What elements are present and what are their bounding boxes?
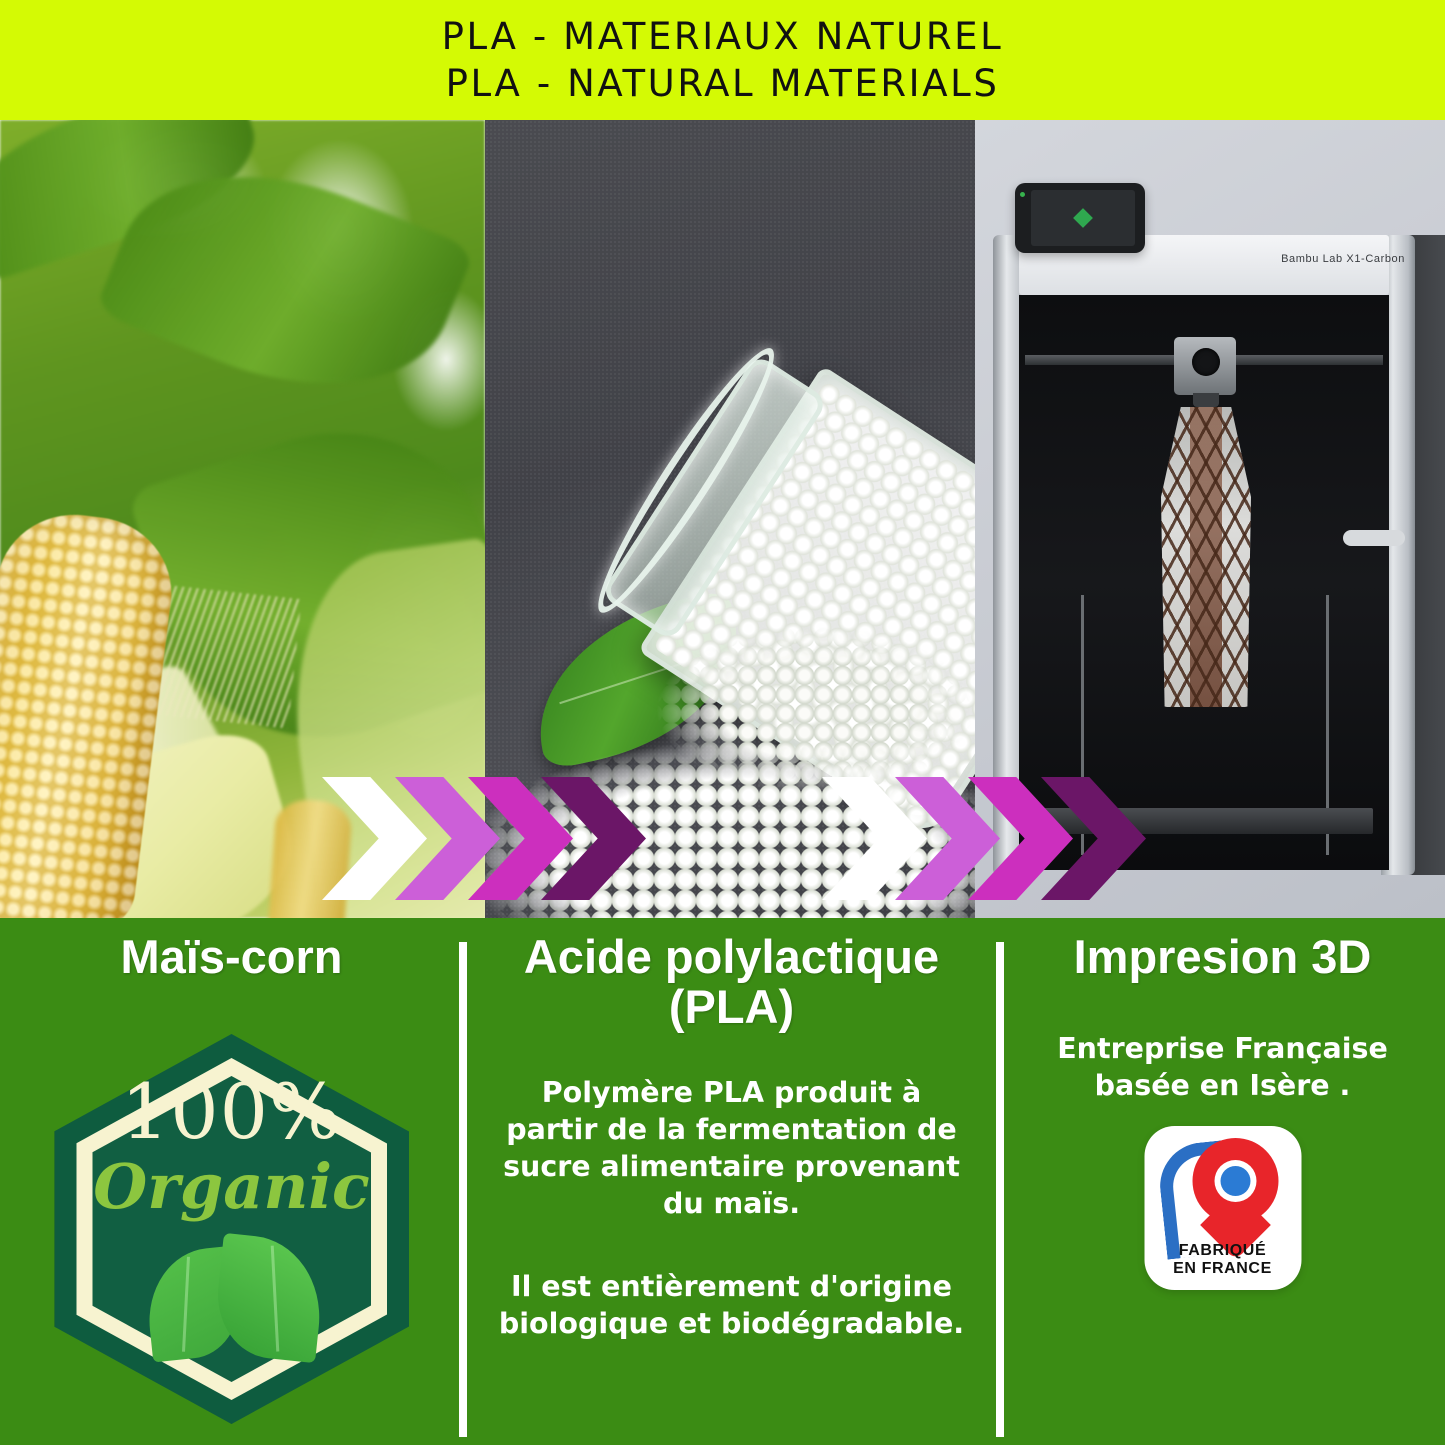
pla-paragraph-1: Polymère PLA produit à partir de la ferm…: [493, 1074, 970, 1222]
columns-container: Maïs-corn 100% Organic Acide polylactiqu…: [0, 918, 1445, 1445]
pla-paragraph-2: Il est entièrement d'origine biologique …: [493, 1268, 970, 1342]
arrow-group-2: [822, 777, 1146, 900]
badge-leaves-icon: [142, 1230, 322, 1360]
column-corn: Maïs-corn 100% Organic: [0, 918, 463, 1445]
arrow-group-1: [322, 777, 646, 900]
printer-door-badge: [1343, 530, 1405, 546]
infographic-page: PLA - MATERIAUX NATUREL PLA - NATURAL MA…: [0, 0, 1445, 1445]
header-title-en: PLA - NATURAL MATERIALS: [446, 60, 1000, 107]
printed-lattice-vase: [1161, 407, 1251, 707]
logo-text-line-2: EN FRANCE: [1144, 1260, 1301, 1278]
column-title-printing: Impresion 3D: [1026, 918, 1419, 982]
made-in-france-logo: FABRIQUÉ EN FRANCE: [1144, 1126, 1301, 1290]
header-banner: PLA - MATERIAUX NATUREL PLA - NATURAL MA…: [0, 0, 1445, 120]
toolhead-fan-icon: [1192, 348, 1220, 376]
printer-nozzle: [1193, 393, 1219, 407]
photo-strip: Bambu Lab X1-Carbon: [0, 120, 1445, 918]
pin-center-dot: [1220, 1166, 1250, 1196]
printer-touchscreen[interactable]: [1015, 183, 1145, 253]
chevron-arrow-icon: [822, 777, 927, 900]
3d-printer: Bambu Lab X1-Carbon: [993, 175, 1423, 875]
chevron-arrow-icon: [322, 777, 427, 900]
column-title-pla: Acide polylactique (PLA): [493, 918, 970, 1032]
logo-text-line-1: FABRIQUÉ: [1144, 1242, 1301, 1260]
bottom-section: Maïs-corn 100% Organic Acide polylactiqu…: [0, 918, 1445, 1445]
header-title-fr: PLA - MATERIAUX NATUREL: [442, 13, 1004, 60]
column-printing: Impresion 3D Entreprise Française basée …: [1000, 918, 1445, 1445]
printer-toolhead: [1174, 337, 1236, 395]
organic-badge: 100% Organic: [54, 1034, 409, 1424]
vase-lattice-pattern: [1161, 407, 1251, 707]
screen-model-preview-icon: [1073, 208, 1093, 228]
badge-percent-text: 100%: [54, 1074, 409, 1150]
map-pin-icon: [1192, 1138, 1278, 1224]
leaf-right-icon: [212, 1233, 328, 1363]
printing-paragraph-1: Entreprise Française basée en Isère .: [1026, 1030, 1419, 1104]
logo-text: FABRIQUÉ EN FRANCE: [1144, 1242, 1301, 1278]
column-divider-2: [996, 942, 1004, 1437]
column-title-corn: Maïs-corn: [16, 918, 447, 982]
badge-organic-text: Organic: [54, 1156, 409, 1218]
screen-status-dot: [1020, 192, 1025, 197]
column-divider-1: [459, 942, 467, 1437]
screen-content: [1031, 190, 1135, 246]
column-pla: Acide polylactique (PLA) Polymère PLA pr…: [463, 918, 1000, 1445]
printer-brand-label: Bambu Lab X1-Carbon: [1281, 253, 1405, 265]
